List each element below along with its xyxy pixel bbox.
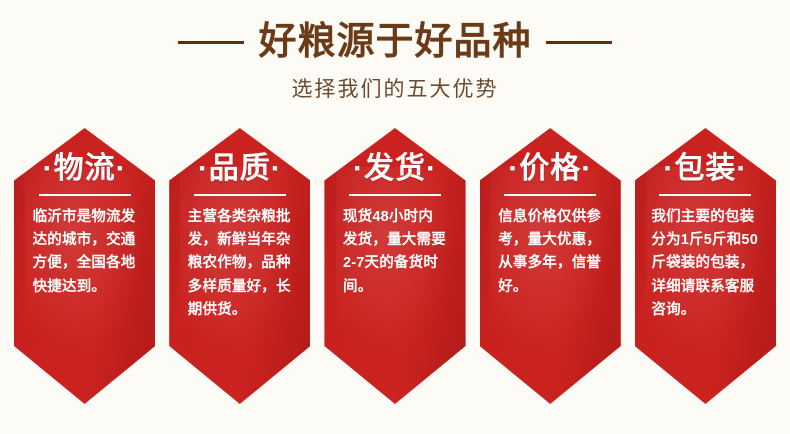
panel-divider bbox=[504, 194, 596, 196]
page-title: 好粮源于好品种 bbox=[258, 16, 531, 68]
advantage-panel-price[interactable]: ·价格· 信息价格仅供参考，量大优惠，从事多年，信誉好。 bbox=[480, 128, 621, 404]
panel-description: 主营各类杂粮批发，新鲜当年杂粮农作物，品种多样质量好，长期供货。 bbox=[188, 206, 292, 323]
panel-divider bbox=[659, 194, 751, 196]
panel-heading: ·发货· bbox=[353, 152, 437, 187]
advantage-panel-list: ·物流· 临沂市是物流发达的城市，交通方便，全国各地快捷达到。 ·品质· 主营各… bbox=[14, 128, 776, 404]
panel-content: ·品质· 主营各类杂粮批发，新鲜当年杂粮农作物，品种多样质量好，长期供货。 bbox=[169, 128, 310, 404]
panel-content: ·发货· 现货48小时内发货，量大需要2-7天的备货时间。 bbox=[324, 128, 465, 404]
panel-heading: ·品质· bbox=[198, 152, 282, 187]
advantage-panel-logistics[interactable]: ·物流· 临沂市是物流发达的城市，交通方便，全国各地快捷达到。 bbox=[14, 128, 155, 404]
panel-divider bbox=[349, 194, 441, 196]
panel-content: ·价格· 信息价格仅供参考，量大优惠，从事多年，信誉好。 bbox=[480, 128, 621, 404]
panel-heading: ·包装· bbox=[663, 152, 747, 187]
panel-heading: ·物流· bbox=[43, 152, 127, 187]
panel-description: 信息价格仅供参考，量大优惠，从事多年，信誉好。 bbox=[498, 206, 602, 300]
promo-banner: 好粮源于好品种 选择我们的五大优势 ·物流· 临沂市是物流发达的城市，交通方便，… bbox=[0, 0, 790, 434]
advantage-panel-packaging[interactable]: ·包装· 我们主要的包装分为1斤5斤和50斤袋装的包装，详细请联系客服咨询。 bbox=[635, 128, 776, 404]
panel-divider bbox=[194, 194, 286, 196]
title-rule-right bbox=[546, 41, 612, 44]
banner-header: 好粮源于好品种 选择我们的五大优势 bbox=[0, 16, 790, 103]
advantage-panel-shipping[interactable]: ·发货· 现货48小时内发货，量大需要2-7天的备货时间。 bbox=[324, 128, 465, 404]
title-row: 好粮源于好品种 bbox=[0, 16, 790, 68]
panel-description: 现货48小时内发货，量大需要2-7天的备货时间。 bbox=[343, 206, 447, 300]
panel-description: 我们主要的包装分为1斤5斤和50斤袋装的包装，详细请联系客服咨询。 bbox=[651, 206, 759, 323]
panel-content: ·包装· 我们主要的包装分为1斤5斤和50斤袋装的包装，详细请联系客服咨询。 bbox=[635, 128, 776, 404]
advantage-panel-quality[interactable]: ·品质· 主营各类杂粮批发，新鲜当年杂粮农作物，品种多样质量好，长期供货。 bbox=[169, 128, 310, 404]
title-rule-left bbox=[178, 41, 244, 44]
panel-divider bbox=[39, 194, 131, 196]
panel-description: 临沂市是物流发达的城市，交通方便，全国各地快捷达到。 bbox=[33, 206, 137, 300]
page-subtitle: 选择我们的五大优势 bbox=[0, 73, 790, 103]
panel-heading: ·价格· bbox=[508, 152, 592, 187]
panel-content: ·物流· 临沂市是物流发达的城市，交通方便，全国各地快捷达到。 bbox=[14, 128, 155, 404]
